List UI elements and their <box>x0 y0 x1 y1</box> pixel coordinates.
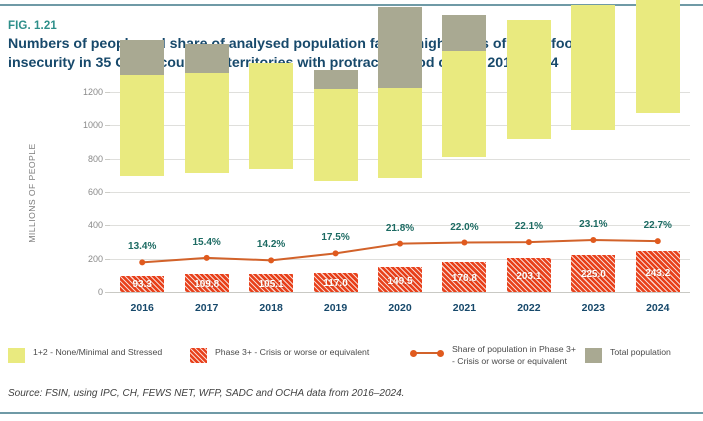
y-tick-label-800: 800 <box>88 154 103 164</box>
x-axis-label-2020: 2020 <box>374 302 426 314</box>
y-tick-label-200: 200 <box>88 254 103 264</box>
share-line-marker-2021[interactable] <box>461 240 467 246</box>
share-line-marker-2020[interactable] <box>397 241 403 247</box>
bar-segment-total-population[interactable] <box>378 7 422 92</box>
x-axis-label-2021: 2021 <box>438 302 490 314</box>
legend-item-analysed[interactable]: 1+2 - None/Minimal and Stressed <box>8 347 162 363</box>
share-line-series <box>110 92 690 292</box>
gridline-0 <box>110 292 690 293</box>
chart-area: MILLIONS OF PEOPLE 020040060080010001200… <box>0 84 703 316</box>
y-tick-mark-0 <box>105 292 110 293</box>
x-axis-label-2016: 2016 <box>116 302 168 314</box>
x-axis-label-2024: 2024 <box>632 302 684 314</box>
y-tick-label-1200: 1200 <box>83 87 103 97</box>
legend-label-phase3: Phase 3+ - Crisis or worse or equivalent <box>215 347 369 359</box>
y-tick-label-0: 0 <box>98 287 103 297</box>
share-line-marker-2017[interactable] <box>204 255 210 261</box>
legend-label-share: Share of population in Phase 3+ - Crisis… <box>452 344 576 367</box>
share-line-marker-2024[interactable] <box>655 238 661 244</box>
y-axis-title: MILLIONS OF PEOPLE <box>27 133 37 253</box>
legend-item-phase3[interactable]: Phase 3+ - Crisis or worse or equivalent <box>190 347 369 363</box>
y-tick-label-600: 600 <box>88 187 103 197</box>
legend-swatch-analysed-icon <box>8 348 25 363</box>
y-tick-label-1000: 1000 <box>83 120 103 130</box>
source-note: Source: FSIN, using IPC, CH, FEWS NET, W… <box>8 388 404 399</box>
share-line-marker-2023[interactable] <box>590 237 596 243</box>
legend-label-analysed: 1+2 - None/Minimal and Stressed <box>33 347 162 359</box>
x-axis-label-2022: 2022 <box>503 302 555 314</box>
x-axis-label-2019: 2019 <box>310 302 362 314</box>
chart-legend: 1+2 - None/Minimal and StressedPhase 3+ … <box>8 344 698 374</box>
x-axis-label-2023: 2023 <box>567 302 619 314</box>
legend-swatch-line-icon <box>410 345 444 360</box>
legend-swatch-phase3-icon <box>190 348 207 363</box>
share-line-marker-2016[interactable] <box>139 259 145 265</box>
figure-number: FIG. 1.21 <box>8 20 57 32</box>
y-tick-label-400: 400 <box>88 220 103 230</box>
share-line-marker-2019[interactable] <box>333 250 339 256</box>
legend-swatch-total-icon <box>585 348 602 363</box>
x-axis-label-2017: 2017 <box>181 302 233 314</box>
plot-region: 020040060080010001200 93.3109.8105.1117.… <box>110 92 690 292</box>
bottom-rule <box>0 412 703 414</box>
share-line-marker-2018[interactable] <box>268 257 274 263</box>
legend-label-total: Total population <box>610 347 671 359</box>
share-line-marker-2022[interactable] <box>526 239 532 245</box>
legend-item-share[interactable]: Share of population in Phase 3+ - Crisis… <box>410 344 576 367</box>
x-axis-labels: 201620172018201920202021202220232024 <box>110 302 690 318</box>
x-axis-label-2018: 2018 <box>245 302 297 314</box>
legend-item-total[interactable]: Total population <box>585 347 671 363</box>
